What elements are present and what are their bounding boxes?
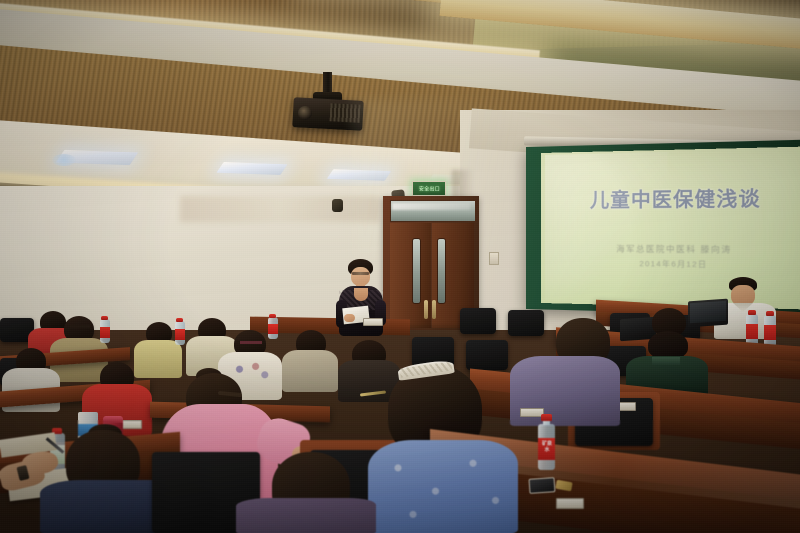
door-handle[interactable]: [424, 300, 428, 319]
mobile-phone[interactable]: [529, 477, 556, 494]
glasses-icon: [352, 272, 369, 275]
presenter-hand: [344, 314, 355, 322]
polo-collar: [652, 357, 680, 365]
chair[interactable]: [466, 340, 508, 370]
slide-presenter-line: 海军总医院中医科 滕向涛: [541, 243, 800, 256]
person-attendee-yellow-top: [134, 340, 182, 378]
slide-title: 儿童中医保健浅谈: [541, 182, 800, 213]
bottle-cap: [269, 314, 276, 318]
person-attendee-lilac-top: [236, 498, 376, 533]
door-glass-panel: [437, 238, 446, 304]
door-transom-glare: [392, 203, 470, 210]
exit-sign: 安全出口: [412, 181, 446, 196]
glasses-icon: [240, 341, 262, 344]
bottle-cap: [101, 316, 108, 320]
door-glass-panel: [412, 238, 421, 304]
bottle-label-text: 矿泉水: [540, 441, 554, 453]
wall-stain: [180, 196, 380, 222]
glasses-icon: [70, 325, 90, 328]
bottle-label: [175, 329, 185, 340]
desk-nameplate: [363, 318, 383, 326]
recessed-panel-light: [216, 162, 287, 175]
wall-speaker-icon: [332, 199, 343, 212]
recessed-panel-light: [327, 169, 392, 181]
bottle-label: [268, 324, 278, 334]
chair[interactable]: [460, 308, 496, 334]
chair[interactable]: [508, 310, 544, 336]
desk-nameplate: [556, 498, 584, 509]
door-handle[interactable]: [432, 300, 436, 319]
bottle-label: [100, 327, 110, 338]
person-hair: [648, 331, 688, 359]
exit-sign-label: 安全出口: [418, 185, 439, 193]
desk-nameplate: [120, 420, 142, 429]
bottle-cap: [748, 310, 756, 315]
laptop-screen: [690, 301, 726, 324]
thermos-lid: [103, 416, 123, 423]
bottle-label: [746, 324, 758, 339]
bottle-cap: [766, 311, 774, 316]
person-attendee-blue-floral-top: [368, 440, 518, 533]
wall-light-switch[interactable]: [489, 252, 499, 265]
projection-screen-surface: 儿童中医保健浅谈 海军总医院中医科 滕向涛 2014年6月12日: [541, 146, 800, 309]
bottle-cap: [541, 414, 552, 421]
lecture-hall-photo: 儿童中医保健浅谈 安全出口 儿童中医保健浅谈 海军总医院中医科 滕向涛 2014…: [0, 0, 800, 533]
presenter-neckline: [354, 288, 368, 301]
person-attendee-beige-top: [282, 350, 338, 392]
projector-vent: [330, 103, 361, 123]
bottle-cap: [176, 318, 183, 322]
slide-date: 2014年6月12日: [541, 257, 800, 272]
panel-light-glow: [52, 154, 76, 166]
bottle-label: [764, 325, 776, 340]
